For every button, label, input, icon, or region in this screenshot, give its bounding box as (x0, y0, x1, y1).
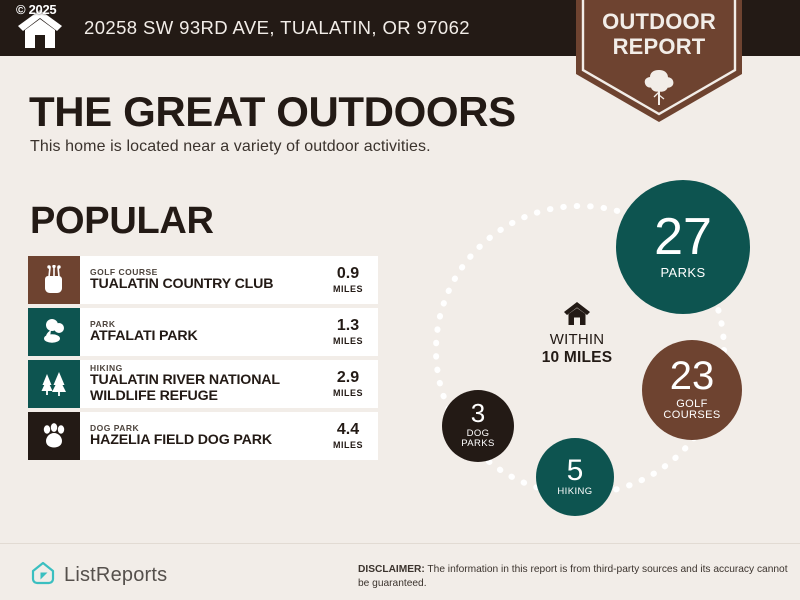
bubble-hiking-value: 5 (567, 457, 584, 485)
center-label-line2: 10 MILES (522, 349, 632, 368)
list-item-distance: 2.9 MILES (328, 370, 372, 398)
list-item-distance: 1.3 MILES (328, 318, 372, 346)
popular-list: GOLF COURSE TUALATIN COUNTRY CLUB 0.9 MI… (28, 256, 378, 464)
center-label-line1: WITHIN (522, 331, 632, 349)
badge-title-line1: OUTDOOR (576, 10, 742, 35)
tree-icon (642, 68, 676, 106)
bubble-parks-label: PARKS (660, 266, 705, 280)
listreports-logo[interactable]: ListReports (30, 560, 167, 591)
list-item-name: HAZELIA FIELD DOG PARK (90, 433, 328, 449)
bubble-golf-value: 23 (670, 358, 715, 395)
disclaimer-label: DISCLAIMER: (358, 564, 425, 575)
list-item-name: TUALATIN RIVER NATIONAL WILDLIFE REFUGE (90, 373, 328, 405)
list-item-name: TUALATIN COUNTRY CLUB (90, 277, 328, 293)
bubble-parks-value: 27 (654, 214, 712, 262)
list-item-distance: 0.9 MILES (328, 266, 372, 294)
list-item[interactable]: DOG PARK HAZELIA FIELD DOG PARK 4.4 MILE… (28, 412, 378, 460)
property-address: 20258 SW 93RD AVE, TUALATIN, OR 97062 (84, 17, 470, 39)
list-item-body: DOG PARK HAZELIA FIELD DOG PARK 4.4 MILE… (80, 412, 378, 460)
badge-title: OUTDOOR REPORT (576, 10, 742, 59)
list-item-body: HIKING TUALATIN RIVER NATIONAL WILDLIFE … (80, 360, 378, 408)
bubble-golf-courses[interactable]: 23 GOLF COURSES (642, 340, 742, 440)
list-item-body: PARK ATFALATI PARK 1.3 MILES (80, 308, 378, 356)
list-item-distance: 4.4 MILES (328, 422, 372, 450)
outdoor-report-badge: OUTDOOR REPORT (576, 0, 742, 122)
listreports-brand-name: ListReports (64, 564, 167, 587)
footer-divider (0, 543, 800, 544)
bubble-golf-label: GOLF COURSES (663, 399, 720, 423)
disclaimer: DISCLAIMER: The information in this repo… (358, 563, 788, 591)
list-item[interactable]: PARK ATFALATI PARK 1.3 MILES (28, 308, 378, 356)
bubble-dog-value: 3 (471, 402, 485, 426)
listreports-pin-icon (30, 560, 56, 591)
copyright-watermark: © 2025 (16, 2, 56, 17)
bubble-parks[interactable]: 27 PARKS (616, 180, 750, 314)
paw-print-icon (28, 412, 80, 460)
list-item[interactable]: GOLF COURSE TUALATIN COUNTRY CLUB 0.9 MI… (28, 256, 378, 304)
house-icon (522, 300, 632, 326)
golf-bag-icon (28, 256, 80, 304)
within-10-miles-chart: 27 PARKS 23 GOLF COURSES 3 DOG PARKS 5 H… (420, 168, 800, 528)
list-item-body: GOLF COURSE TUALATIN COUNTRY CLUB 0.9 MI… (80, 256, 378, 304)
park-tree-icon (28, 308, 80, 356)
bubble-hiking-label: HIKING (557, 487, 592, 497)
chart-center-label: WITHIN 10 MILES (522, 300, 632, 368)
bubble-dog-parks[interactable]: 3 DOG PARKS (442, 390, 514, 462)
page-subtitle: This home is located near a variety of o… (30, 138, 431, 156)
popular-heading: POPULAR (30, 200, 214, 243)
list-item[interactable]: HIKING TUALATIN RIVER NATIONAL WILDLIFE … (28, 360, 378, 408)
bubble-hiking[interactable]: 5 HIKING (536, 438, 614, 516)
list-item-name: ATFALATI PARK (90, 329, 328, 345)
bubble-dog-label: DOG PARKS (461, 429, 495, 450)
page-title: THE GREAT OUTDOORS (29, 88, 516, 136)
badge-title-line2: REPORT (576, 35, 742, 60)
pine-trees-icon (28, 360, 80, 408)
